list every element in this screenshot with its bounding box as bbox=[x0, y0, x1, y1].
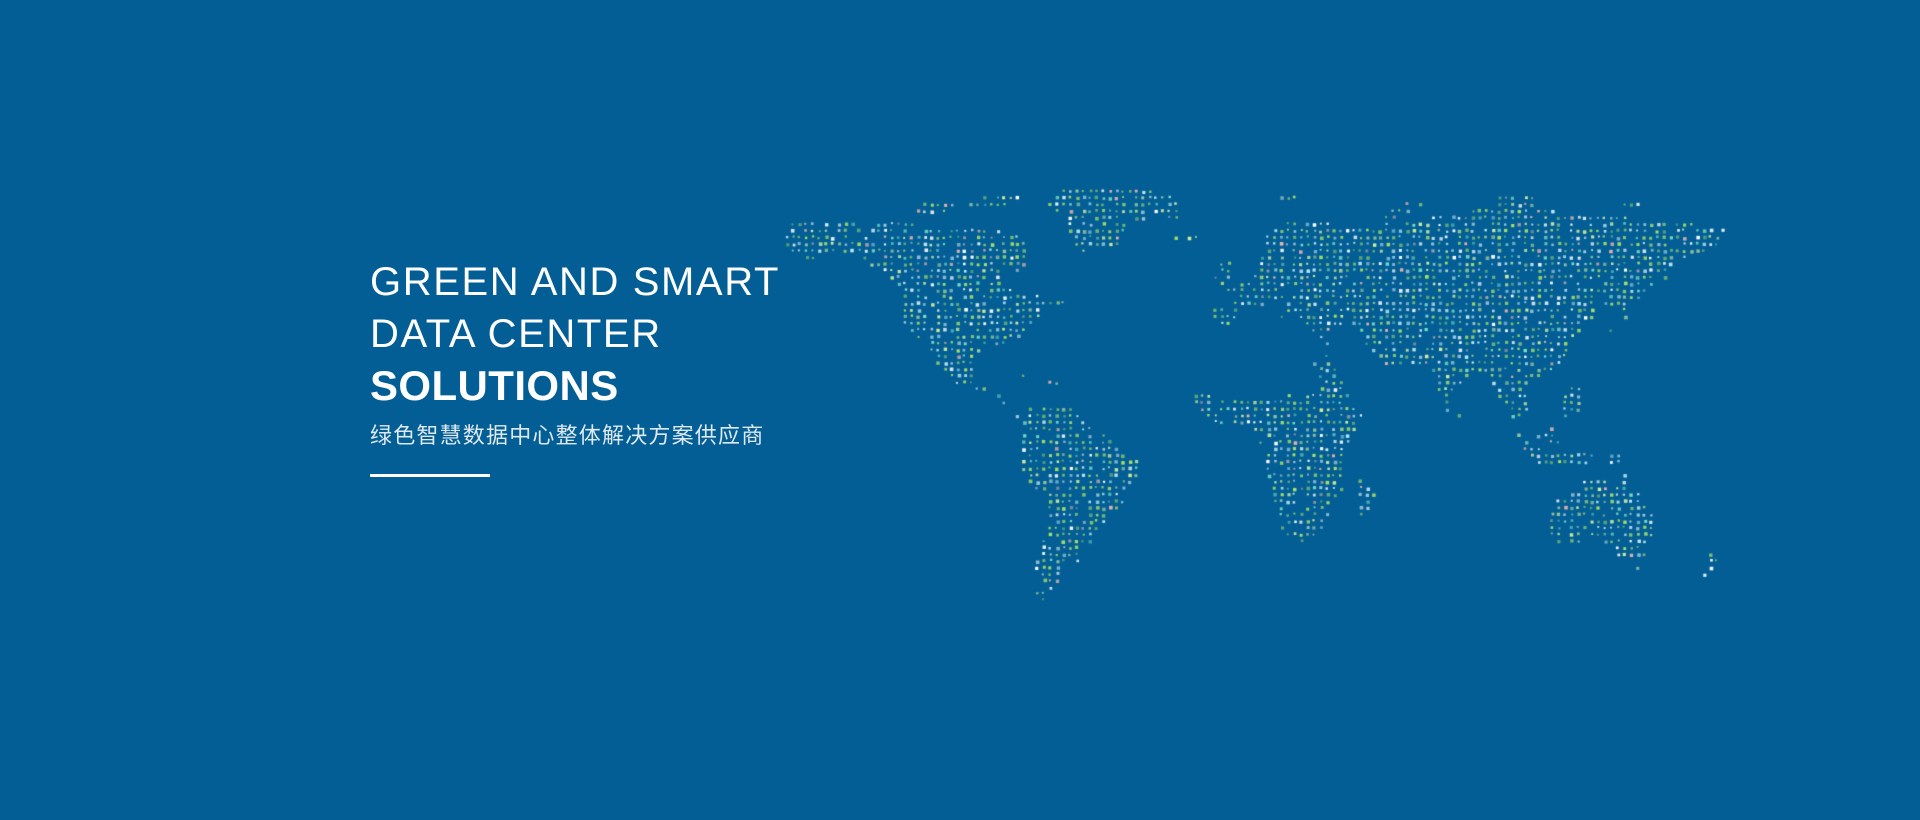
headline-line-1: GREEN AND SMART bbox=[370, 262, 930, 302]
headline-line-2: DATA CENTER bbox=[370, 314, 930, 354]
headline-block: GREEN AND SMART DATA CENTER SOLUTIONS 绿色… bbox=[370, 262, 930, 477]
divider-rule bbox=[370, 474, 490, 477]
world-map-canvas bbox=[0, 0, 1920, 820]
headline-line-3: SOLUTIONS bbox=[370, 365, 930, 407]
world-map-dot-matrix bbox=[0, 0, 1920, 820]
hero-banner: GREEN AND SMART DATA CENTER SOLUTIONS 绿色… bbox=[0, 0, 1920, 820]
subtitle-chinese: 绿色智慧数据中心整体解决方案供应商 bbox=[370, 423, 930, 449]
